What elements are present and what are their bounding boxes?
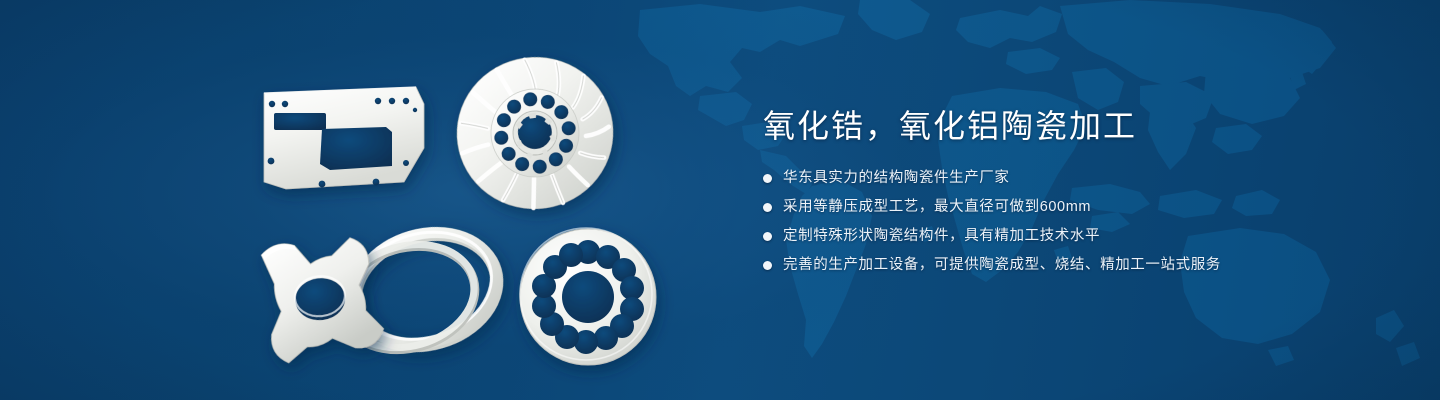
bullet-dot-icon (763, 261, 772, 270)
ceramic-perforated-disc (520, 228, 656, 365)
promo-banner: 氧化锆，氧化铝陶瓷加工 华东具实力的结构陶瓷件生产厂家 采用等静压成型工艺，最大… (0, 0, 1440, 400)
list-item: 完善的生产加工设备，可提供陶瓷成型、烧结、精加工一站式服务 (763, 255, 1363, 276)
ceramic-cross-shaped-part (260, 234, 386, 364)
ceramic-products-image (0, 0, 700, 400)
bullet-dot-icon (763, 232, 772, 241)
feature-text: 定制特殊形状陶瓷结构件，具有精加工技术水平 (783, 226, 1100, 247)
banner-text-block: 氧化锆，氧化铝陶瓷加工 华东具实力的结构陶瓷件生产厂家 采用等静压成型工艺，最大… (763, 106, 1363, 284)
feature-text: 完善的生产加工设备，可提供陶瓷成型、烧结、精加工一站式服务 (783, 255, 1221, 276)
ceramic-impeller-disc (447, 47, 623, 219)
feature-text: 采用等静压成型工艺，最大直径可做到600mm (783, 197, 1091, 218)
feature-text: 华东具实力的结构陶瓷件生产厂家 (783, 168, 1010, 189)
bullet-dot-icon (763, 203, 772, 212)
list-item: 定制特殊形状陶瓷结构件，具有精加工技术水平 (763, 226, 1363, 247)
ceramic-plate-with-cutouts (264, 87, 424, 189)
bullet-dot-icon (763, 174, 772, 183)
banner-headline: 氧化锆，氧化铝陶瓷加工 (763, 106, 1363, 146)
feature-list: 华东具实力的结构陶瓷件生产厂家 采用等静压成型工艺，最大直径可做到600mm 定… (763, 168, 1363, 276)
list-item: 采用等静压成型工艺，最大直径可做到600mm (763, 197, 1363, 218)
list-item: 华东具实力的结构陶瓷件生产厂家 (763, 168, 1363, 189)
